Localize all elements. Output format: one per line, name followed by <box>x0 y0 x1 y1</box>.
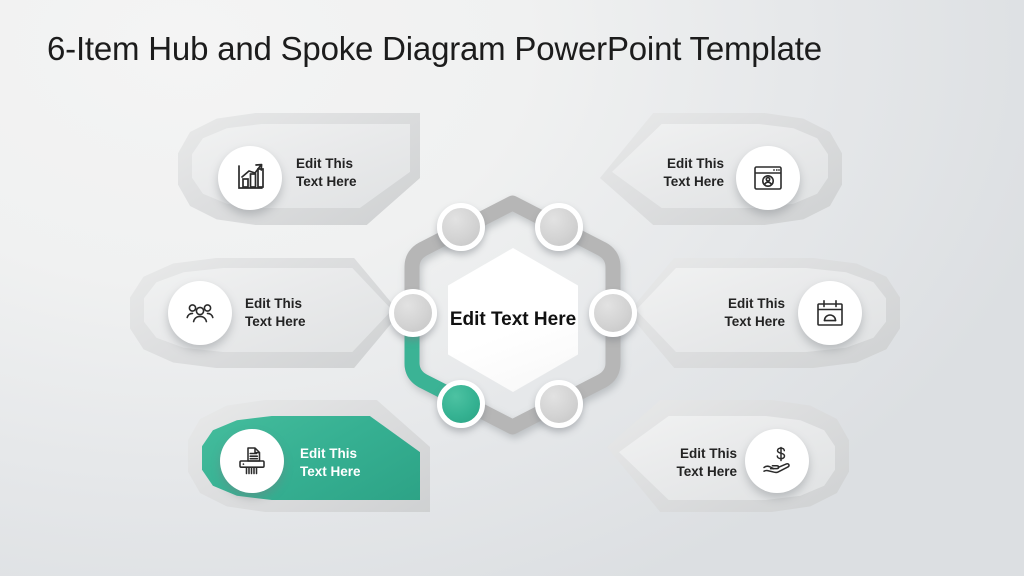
connector-top-left[interactable] <box>437 203 485 251</box>
calendar-icon <box>798 281 862 345</box>
bar-chart-growth-icon <box>218 146 282 210</box>
connector-bottom-right[interactable] <box>535 380 583 428</box>
node-middle-right[interactable]: Edit This Text Here <box>628 258 900 368</box>
connector-middle-left[interactable] <box>389 289 437 337</box>
node-top-right-label: Edit This Text Here <box>663 155 724 191</box>
node-bottom-left-label: Edit This Text Here <box>300 445 361 481</box>
hub-center-label: Edit Text Here <box>450 308 576 332</box>
connector-middle-right[interactable] <box>589 289 637 337</box>
paper-shredder-icon <box>220 429 284 493</box>
page-title: 6-Item Hub and Spoke Diagram PowerPoint … <box>47 30 822 68</box>
connector-top-right[interactable] <box>535 203 583 251</box>
node-middle-left[interactable]: Edit This Text Here <box>130 258 400 368</box>
node-middle-left-label: Edit This Text Here <box>245 295 306 331</box>
browser-user-account-icon <box>736 146 800 210</box>
hand-holding-dollar-icon <box>745 429 809 493</box>
connector-bottom-left[interactable] <box>437 380 485 428</box>
node-bottom-right-label: Edit This Text Here <box>676 445 737 481</box>
node-middle-right-label: Edit This Text Here <box>724 295 785 331</box>
slide-canvas: 6-Item Hub and Spoke Diagram PowerPoint … <box>0 0 1024 576</box>
node-top-left-label: Edit This Text Here <box>296 155 357 191</box>
people-group-icon <box>168 281 232 345</box>
